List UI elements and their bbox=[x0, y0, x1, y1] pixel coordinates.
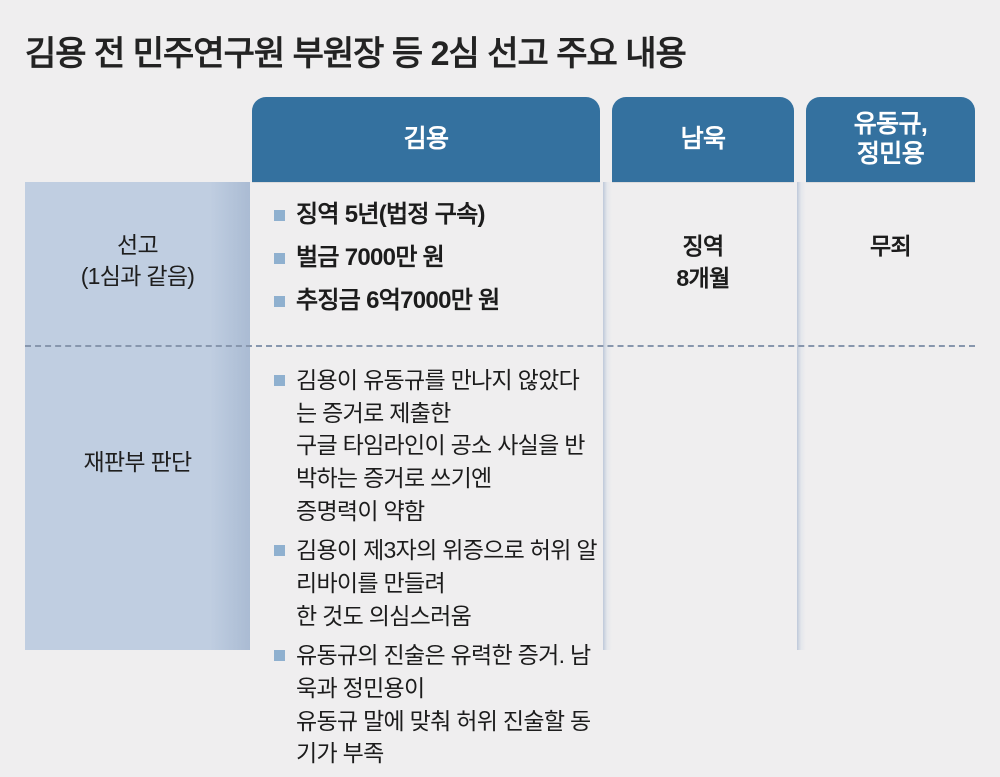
cell-column-namwook: 징역 8개월 bbox=[612, 182, 794, 650]
infographic-root: 김용 전 민주연구원 부원장 등 2심 선고 주요 내용 김용 남욱 유동규, … bbox=[0, 0, 1000, 681]
list-item: 김용이 제3자의 위증으로 허위 알리바이를 만들려 한 것도 의심스러움 bbox=[272, 534, 598, 632]
column-header-namwook: 남욱 bbox=[612, 97, 794, 182]
row-label-sentence-text: 선고 (1심과 같음) bbox=[25, 230, 250, 292]
cell-column-yoojung: 무죄 bbox=[806, 182, 975, 650]
list-item-text: 벌금 7000만 원 bbox=[296, 241, 598, 275]
bullet-square-icon bbox=[274, 210, 285, 221]
bullet-square-icon bbox=[274, 375, 285, 386]
row-label-court-judgment-text: 재판부 판단 bbox=[25, 447, 250, 478]
bullet-square-icon bbox=[274, 253, 285, 264]
cell-kimyong-court-judgment: 김용이 유동규를 만나지 않았다는 증거로 제출한 구글 타임라인이 공소 사실… bbox=[272, 364, 598, 777]
list-item-text: 김용이 제3자의 위증으로 허위 알리바이를 만들려 한 것도 의심스러움 bbox=[296, 534, 598, 632]
row-label-sentence: 선고 (1심과 같음) bbox=[25, 230, 250, 292]
cell-yoojung-sentence-text: 무죄 bbox=[806, 230, 975, 262]
list-item: 김용이 유동규를 만나지 않았다는 증거로 제출한 구글 타임라인이 공소 사실… bbox=[272, 364, 598, 527]
row-label-column: 선고 (1심과 같음) 재판부 판단 bbox=[25, 182, 250, 650]
list-item-text: 김용이 유동규를 만나지 않았다는 증거로 제출한 구글 타임라인이 공소 사실… bbox=[296, 364, 598, 527]
row-label-court-judgment: 재판부 판단 bbox=[25, 447, 250, 478]
column-header-yoojung: 유동규, 정민용 bbox=[806, 97, 975, 182]
column-header-kimyong-label: 김용 bbox=[404, 125, 449, 155]
column-divider-1 bbox=[603, 182, 612, 650]
list-item-text: 징역 5년(법정 구속) bbox=[296, 198, 598, 232]
column-header-yoojung-label: 유동규, 정민용 bbox=[854, 110, 928, 169]
column-divider-2 bbox=[797, 182, 806, 650]
page-title: 김용 전 민주연구원 부원장 등 2심 선고 주요 내용 bbox=[25, 26, 686, 75]
cell-namwook-sentence: 징역 8개월 bbox=[612, 230, 794, 294]
list-item: 징역 5년(법정 구속) bbox=[272, 198, 598, 232]
list-item-text: 유동규의 진술은 유력한 증거. 남욱과 정민용이 유동규 말에 맞춰 허위 진… bbox=[296, 639, 598, 770]
bullet-square-icon bbox=[274, 296, 285, 307]
cell-yoojung-sentence: 무죄 bbox=[806, 230, 975, 262]
list-item-text: 추징금 6억7000만 원 bbox=[296, 284, 598, 318]
row-divider-dashed bbox=[25, 345, 975, 347]
cell-namwook-sentence-text: 징역 8개월 bbox=[612, 230, 794, 294]
column-header-namwook-label: 남욱 bbox=[681, 125, 726, 155]
bullet-square-icon bbox=[274, 545, 285, 556]
cell-kimyong-sentence: 징역 5년(법정 구속) 벌금 7000만 원 추징금 6억7000만 원 bbox=[272, 198, 598, 327]
list-item: 추징금 6억7000만 원 bbox=[272, 284, 598, 318]
cell-column-kimyong: 징역 5년(법정 구속) 벌금 7000만 원 추징금 6억7000만 원 김용… bbox=[252, 182, 602, 650]
list-item: 벌금 7000만 원 bbox=[272, 241, 598, 275]
column-header-kimyong: 김용 bbox=[252, 97, 600, 182]
table-body: 선고 (1심과 같음) 재판부 판단 징역 5년(법정 구속) 벌금 7000만… bbox=[25, 182, 975, 650]
list-item: 유동규의 진술은 유력한 증거. 남욱과 정민용이 유동규 말에 맞춰 허위 진… bbox=[272, 639, 598, 770]
bullet-square-icon bbox=[274, 650, 285, 661]
